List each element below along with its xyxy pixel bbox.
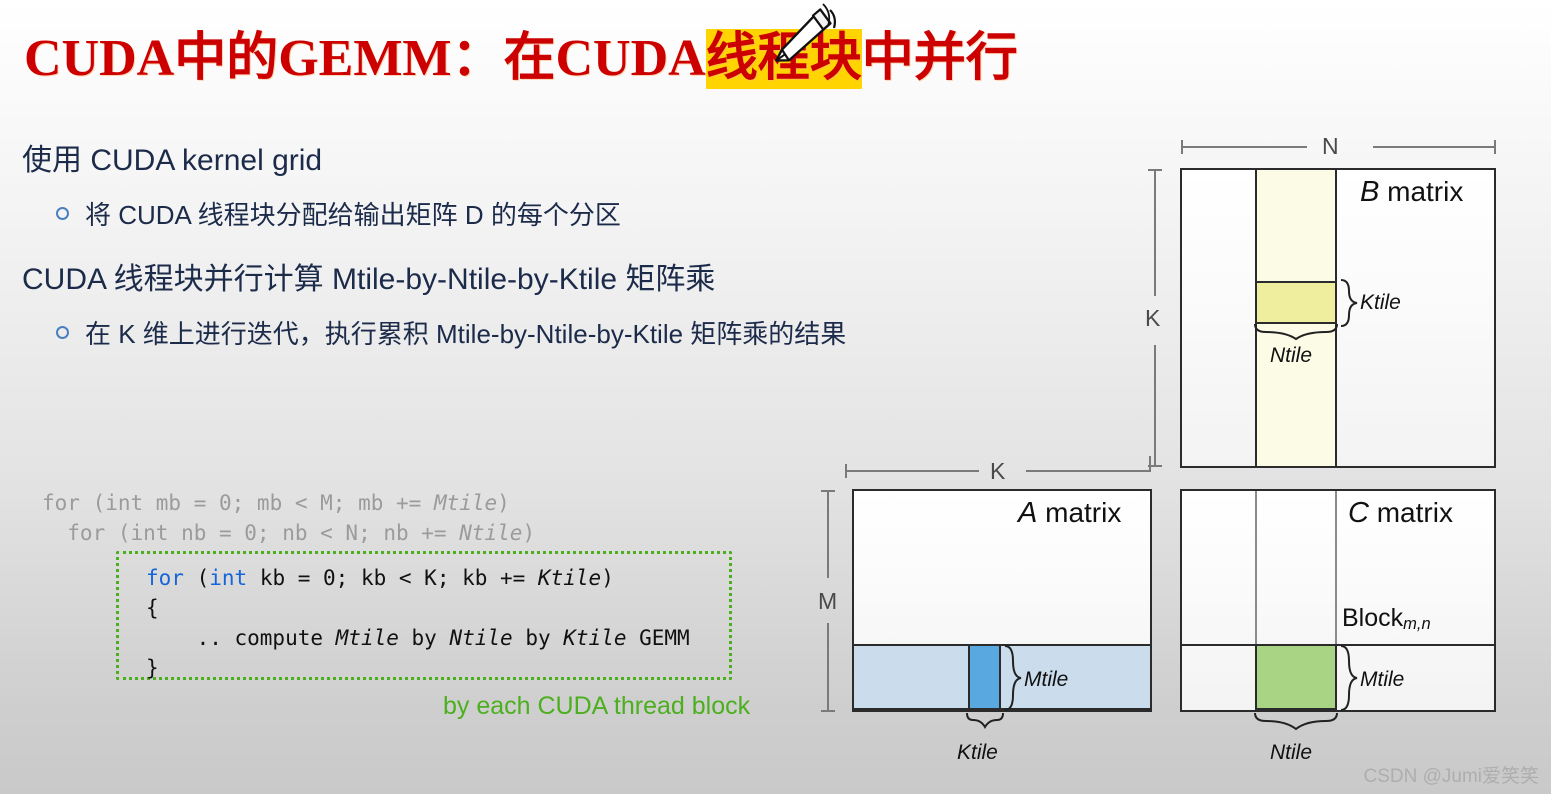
- a-ktile-label: Ktile: [957, 741, 998, 765]
- b-matrix-ktile-tile: [1255, 281, 1337, 324]
- c-matrix-block-tile: [1255, 644, 1337, 710]
- a-dim-m-line-bottom: [827, 623, 829, 711]
- code-inner-var-ktile: Ktile: [538, 566, 601, 590]
- a-dim-m-cap-bottom: [821, 710, 835, 712]
- body-bullet-1-label: 将 CUDA 线程块分配给输出矩阵 D 的每个分区: [85, 195, 621, 232]
- code-body-suffix: GEMM: [626, 626, 689, 650]
- c-mtile-label: Mtile: [1360, 668, 1404, 692]
- c-matrix-label-letter: C: [1348, 497, 1369, 529]
- b-dim-k-line-top: [1154, 169, 1156, 296]
- code-outer-line2-suffix: ): [522, 521, 535, 545]
- page-title: CUDA中的GEMM：在CUDA线程块中并行: [24, 16, 1018, 88]
- code-body-var-mtile: Mtile: [336, 626, 399, 650]
- b-dim-n-cap-left: [1181, 140, 1183, 154]
- body-bullet-2-label: 在 K 维上进行迭代，执行累积 Mtile-by-Ntile-by-Ktile …: [85, 314, 846, 351]
- c-ntile-brace-icon: [1254, 712, 1338, 732]
- c-matrix-label: C matrix: [1348, 497, 1453, 530]
- code-brace-close: }: [146, 656, 159, 680]
- a-matrix-label: A matrix: [1018, 497, 1121, 530]
- bullet-marker-icon: [56, 207, 69, 220]
- code-caption: by each CUDA thread block: [443, 692, 750, 721]
- code-kw-for: for: [146, 566, 184, 590]
- title-text: CUDA中的GEMM：在CUDA线程块中并行: [24, 15, 1018, 90]
- a-matrix-ktile-tile: [968, 644, 1001, 710]
- a-dim-k-line-right: [1026, 470, 1151, 472]
- b-dim-n-line-right: [1373, 146, 1495, 148]
- b-dim-k-label: K: [1145, 305, 1160, 332]
- b-dim-n-line-left: [1181, 146, 1307, 148]
- a-ktile-brace-icon: [966, 712, 1004, 730]
- code-inner-paren-open: (: [184, 566, 209, 590]
- b-ntile-label: Ntile: [1270, 344, 1312, 368]
- b-dim-n-cap-right: [1494, 140, 1496, 154]
- code-body-var-ktile: Ktile: [563, 626, 626, 650]
- b-dim-n-label: N: [1322, 133, 1339, 160]
- slide-canvas: CUDA中的GEMM：在CUDA线程块中并行 使用 CUDA kernel gr…: [0, 0, 1551, 794]
- b-ntile-brace-icon: [1254, 323, 1338, 341]
- c-ntile-label: Ntile: [1270, 741, 1312, 765]
- bullet-marker-icon: [56, 326, 69, 339]
- b-matrix-label: B matrix: [1360, 176, 1463, 209]
- title-segment-before: CUDA中的GEMM：在CUDA: [24, 30, 706, 87]
- c-matrix-block-label-subscript: m,n: [1403, 615, 1431, 633]
- code-body-mid-1: by: [399, 626, 450, 650]
- code-outer-line1-suffix: ): [497, 491, 510, 515]
- code-inner-loop: for (int kb = 0; kb < K; kb += Ktile) { …: [146, 563, 690, 683]
- code-brace-open: {: [146, 596, 159, 620]
- code-body-var-ntile: Ntile: [449, 626, 512, 650]
- a-dim-k-line-left: [845, 470, 979, 472]
- title-segment-after: 中并行: [862, 30, 1018, 87]
- body-bullet-1: 将 CUDA 线程块分配给输出矩阵 D 的每个分区: [56, 195, 621, 232]
- title-highlighted-segment: 线程块: [706, 29, 862, 89]
- code-outer-line2-prefix: for (int nb = 0; nb < N; nb +=: [42, 521, 459, 545]
- a-dim-k-label: K: [990, 458, 1005, 485]
- code-inner-cond: kb = 0; kb < K; kb +=: [247, 566, 538, 590]
- b-matrix-label-rest: matrix: [1379, 176, 1463, 207]
- c-matrix-label-rest: matrix: [1369, 497, 1453, 528]
- a-dim-m-line-top: [827, 490, 829, 578]
- code-outer-line2-var: Ntile: [459, 521, 522, 545]
- a-matrix-label-letter: A: [1018, 497, 1037, 529]
- code-inner-paren-close: ): [601, 566, 614, 590]
- b-matrix-box: [1180, 168, 1496, 468]
- a-dim-m-label: M: [818, 588, 837, 615]
- b-ktile-label: Ktile: [1360, 291, 1401, 315]
- a-mtile-label: Mtile: [1024, 668, 1068, 692]
- b-matrix-label-letter: B: [1360, 176, 1379, 208]
- code-body-prefix: .. compute: [146, 626, 336, 650]
- a-matrix-mtile-strip: [854, 644, 1150, 710]
- a-matrix-label-rest: matrix: [1037, 497, 1121, 528]
- code-outer-line1-var: Mtile: [434, 491, 497, 515]
- c-matrix-mtile-row: [1182, 644, 1494, 710]
- code-outer-line1-prefix: for (int mb = 0; mb < M; mb +=: [42, 491, 434, 515]
- c-matrix-block-label: Blockm,n: [1342, 604, 1431, 634]
- code-kw-int: int: [209, 566, 247, 590]
- body-line-1: 使用 CUDA kernel grid: [22, 135, 322, 179]
- body-bullet-2: 在 K 维上进行迭代，执行累积 Mtile-by-Ntile-by-Ktile …: [56, 314, 846, 351]
- a-mtile-brace-icon: [1003, 645, 1023, 711]
- body-line-2: CUDA 线程块并行计算 Mtile-by-Ntile-by-Ktile 矩阵乘: [22, 254, 715, 298]
- code-outer-loops: for (int mb = 0; mb < M; mb += Mtile) fo…: [42, 488, 535, 548]
- c-mtile-brace-icon: [1339, 645, 1359, 711]
- c-matrix-block-label-text: Block: [1342, 604, 1403, 632]
- a-dim-k-cap-right: [1149, 456, 1151, 472]
- b-dim-k-line-bottom: [1154, 345, 1156, 467]
- watermark: CSDN @Jumi爱笑笑: [1363, 761, 1539, 788]
- code-body-mid-2: by: [513, 626, 564, 650]
- b-ktile-brace-icon: [1339, 279, 1359, 327]
